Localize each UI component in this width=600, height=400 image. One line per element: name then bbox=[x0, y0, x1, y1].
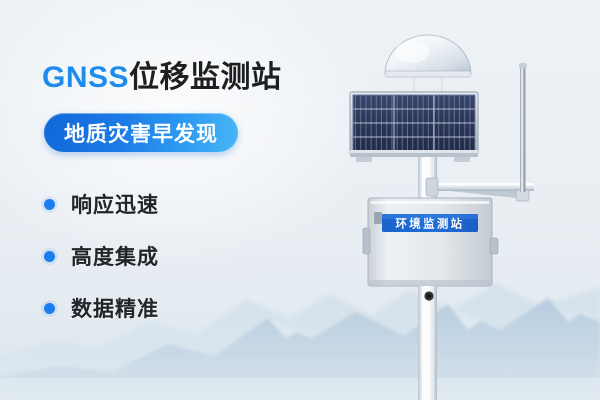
whip-antenna[interactable] bbox=[516, 63, 529, 201]
title-rest: 位移监测站 bbox=[129, 61, 282, 94]
page-title: GNSS位移监测站 bbox=[42, 52, 282, 96]
bullet-dot-icon bbox=[44, 303, 55, 314]
list-item-label: 数据精准 bbox=[71, 293, 159, 323]
label-plate-text: 环境监测站 bbox=[396, 217, 465, 231]
list-item: 响应迅速 bbox=[44, 178, 159, 230]
status-badge: 地质灾害早发现 bbox=[44, 113, 238, 152]
list-item-label: 高度集成 bbox=[71, 241, 159, 271]
gnss-antenna-dome bbox=[385, 35, 471, 94]
list-item-label: 响应迅速 bbox=[71, 189, 159, 219]
product-banner: 环境监测站 GNSS位移监测站 地质灾害早发现 响应迅速 高度集成 bbox=[0, 0, 600, 400]
list-item: 数据精准 bbox=[44, 282, 159, 334]
title-highlight: GNSS bbox=[42, 61, 129, 94]
status-badge-label: 地质灾害早发现 bbox=[64, 118, 218, 148]
feature-list: 响应迅速 高度集成 数据精准 bbox=[44, 178, 159, 334]
bullet-dot-icon bbox=[44, 199, 55, 210]
monitoring-station-graphic: 环境监测站 bbox=[330, 0, 600, 400]
label-plate: 环境监测站 bbox=[382, 214, 478, 232]
bullet-dot-icon bbox=[44, 251, 55, 262]
device-illustration: 环境监测站 bbox=[330, 0, 600, 400]
solar-panel bbox=[350, 92, 478, 162]
pole-front-section bbox=[418, 286, 437, 400]
equipment-enclosure[interactable]: 环境监测站 bbox=[363, 198, 498, 286]
list-item: 高度集成 bbox=[44, 230, 159, 282]
